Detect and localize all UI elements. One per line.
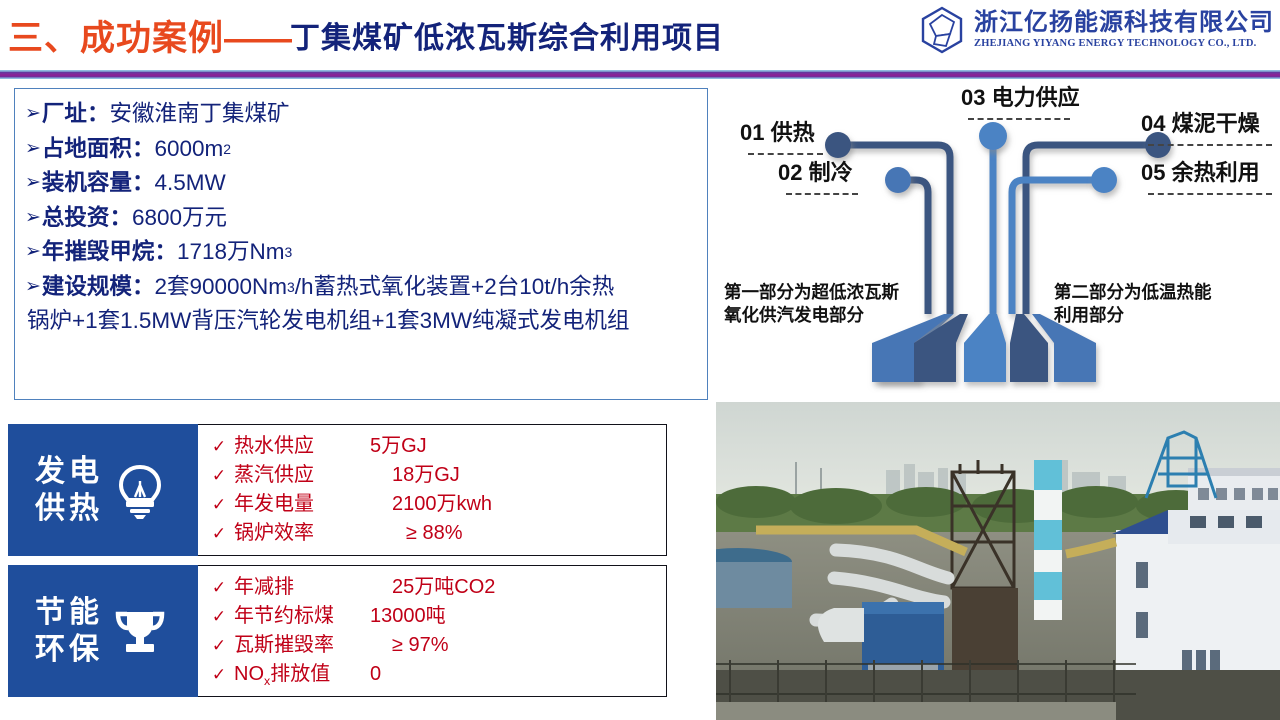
node-dot-02: [885, 167, 911, 193]
logo-company-cn: 浙江亿扬能源科技有限公司: [974, 10, 1274, 34]
metric-block-energy-env: 节能 环保 ✓ 年减排 25万吨CO2 ✓ 年节约标煤 13000吨: [8, 565, 667, 697]
check-icon: ✓: [204, 602, 234, 631]
metric-row: ✓ NOx排放值 0: [204, 660, 666, 696]
metric-row: ✓ 锅炉效率 ≥ 88%: [204, 519, 666, 548]
info-separator: ：: [132, 132, 155, 167]
plant-photo-illustration: [716, 402, 1280, 720]
info-item-area: ➢ 占地面积 ： 6000m2: [25, 132, 697, 167]
diagram-text-01: 供热: [771, 120, 815, 145]
check-icon: ✓: [204, 432, 234, 461]
metric-row-name: 热水供应: [234, 432, 370, 461]
metric-table-energy-env: ✓ 年减排 25万吨CO2 ✓ 年节约标煤 13000吨 ✓ 瓦斯摧毁率 ≥ 9…: [198, 565, 667, 697]
metric-tag-line2: 环保: [35, 631, 103, 668]
diagram-underline-04: [1148, 144, 1272, 146]
diagram-label-02: 02 制冷: [778, 155, 853, 187]
bullet-icon: ➢: [25, 166, 41, 201]
plant-photo: [716, 402, 1280, 720]
info-value: 6000m: [154, 132, 223, 167]
metric-row-value: 5万GJ: [370, 432, 427, 461]
info-value: 6800万元: [132, 201, 227, 236]
diagram-num-05: 05: [1141, 160, 1165, 185]
metric-row-value: ≥ 88%: [370, 519, 463, 548]
diagram-caption-left-line2: 氧化供汽发电部分: [724, 304, 899, 327]
info-item-methane: ➢ 年摧毁甲烷 ： 1718万Nm3: [25, 235, 697, 270]
diagram-num-02: 02: [778, 160, 802, 185]
info-item-site: ➢ 厂址 ： 安徽淮南丁集煤矿: [25, 97, 697, 132]
project-info-panel: ➢ 厂址 ： 安徽淮南丁集煤矿 ➢ 占地面积 ： 6000m2 ➢ 装机容量 ：…: [14, 88, 708, 400]
lightbulb-icon: [109, 459, 171, 521]
info-separator: ：: [132, 166, 155, 201]
metric-block-power-heat: 发电 供热 ✓ 热水供应 5万GJ ✓ 蒸汽供应 18万GJ: [8, 424, 667, 556]
bullet-icon: ➢: [25, 132, 41, 167]
metric-row-name-b: 排放值: [270, 663, 330, 685]
diagram-label-05: 05 余热利用: [1141, 155, 1260, 187]
metric-row-name: 年节约标煤: [234, 602, 370, 631]
logo-text-block: 浙江亿扬能源科技有限公司 ZHEJIANG YIYANG ENERGY TECH…: [974, 10, 1274, 50]
metric-row-value: 2100万kwh: [370, 490, 492, 519]
metric-tag-energy-env: 节能 环保: [8, 565, 198, 697]
project-info-list: ➢ 厂址 ： 安徽淮南丁集煤矿 ➢ 占地面积 ： 6000m2 ➢ 装机容量 ：…: [15, 89, 707, 339]
info-item-build-scale: ➢ 建设规模 ： 2套90000Nm3/h蓄热式氧化装置+2台10t/h余热: [25, 270, 697, 305]
photo-chimney: [1034, 460, 1062, 620]
info-label: 年摧毁甲烷: [42, 235, 155, 270]
title-dash: ——: [224, 19, 290, 58]
diagram-label-03: 03 电力供应: [961, 80, 1080, 112]
info-label: 厂址: [42, 97, 87, 132]
metric-tag-line1: 节能: [35, 594, 103, 631]
diagram-caption-left-line1: 第一部分为超低浓瓦斯: [724, 281, 899, 304]
diagram-caption-right: 第二部分为低温热能 利用部分: [1054, 281, 1212, 327]
metric-row-name-a: NO: [234, 663, 264, 685]
check-icon: ✓: [204, 660, 234, 689]
check-icon: ✓: [204, 490, 234, 519]
info-label: 占地面积: [42, 132, 132, 167]
info-value-part-b: /h蓄热式氧化装置+2台10t/h余热: [295, 270, 614, 305]
metric-row: ✓ 年减排 25万吨CO2: [204, 573, 666, 602]
diagram-underline-05: [1148, 193, 1272, 195]
diagram-text-03: 电力供应: [992, 85, 1080, 110]
metric-row-value: 18万GJ: [370, 461, 460, 490]
diagram-num-03: 03: [961, 85, 985, 110]
info-value: 安徽淮南丁集煤矿: [109, 97, 289, 132]
hexagon-logo-icon: [920, 6, 964, 54]
node-dot-05: [1091, 167, 1117, 193]
info-separator: ：: [154, 235, 177, 270]
check-icon: ✓: [204, 573, 234, 602]
metric-row-name: 瓦斯摧毁率: [234, 631, 370, 660]
metric-table-power-heat: ✓ 热水供应 5万GJ ✓ 蒸汽供应 18万GJ ✓ 年发电量 2100万kwh…: [198, 424, 667, 556]
metric-row-value: 0: [370, 660, 381, 689]
diagram-num-01: 01: [740, 120, 764, 145]
slide-root: 三、成功案例——丁集煤矿低浓瓦斯综合利用项目 浙江亿扬能源科技有限公司 ZHEJ…: [0, 0, 1280, 720]
node-dot-03: [979, 122, 1007, 150]
info-item-capacity: ➢ 装机容量 ： 4.5MW: [25, 166, 697, 201]
info-item-build-scale-line2: 锅炉+1套1.5MW背压汽轮发电机组+1套3MW纯凝式发电机组: [25, 304, 697, 339]
metric-tag-line2: 供热: [35, 490, 103, 527]
diagram-label-04: 04 煤泥干燥: [1141, 106, 1260, 138]
info-value: 4.5MW: [154, 166, 225, 201]
metric-row: ✓ 年发电量 2100万kwh: [204, 490, 666, 519]
metric-tag-label: 节能 环保: [35, 594, 103, 668]
bullet-icon: ➢: [25, 97, 41, 132]
check-icon: ✓: [204, 461, 234, 490]
info-item-investment: ➢ 总投资 ： 6800万元: [25, 201, 697, 236]
metric-tag-line1: 发电: [35, 453, 103, 490]
company-logo: 浙江亿扬能源科技有限公司 ZHEJIANG YIYANG ENERGY TECH…: [920, 6, 1274, 54]
metric-tag-power-heat: 发电 供热: [8, 424, 198, 556]
diagram-text-02: 制冷: [809, 160, 853, 185]
metric-row-name: 蒸汽供应: [234, 461, 370, 490]
info-value-superscript: 3: [285, 235, 293, 270]
title-main: 丁集煤矿低浓瓦斯综合利用项目: [290, 22, 724, 55]
metric-row: ✓ 热水供应 5万GJ: [204, 432, 666, 461]
info-label: 总投资: [42, 201, 110, 236]
diagram-num-04: 04: [1141, 111, 1165, 136]
logo-company-en: ZHEJIANG YIYANG ENERGY TECHNOLOGY CO., L…: [974, 39, 1274, 50]
title-accent: 三、成功案例: [8, 19, 224, 58]
info-value-superscript: 3: [287, 270, 295, 305]
diagram-caption-right-line2: 利用部分: [1054, 304, 1212, 327]
info-value-part-a: 2套90000Nm: [154, 270, 287, 305]
info-value: 1718万Nm: [177, 235, 285, 270]
header-divider: [0, 70, 1280, 79]
metric-row-value: 25万吨CO2: [370, 573, 495, 602]
trophy-icon: [109, 600, 171, 662]
diagram-text-04: 煤泥干燥: [1172, 111, 1260, 136]
metric-row: ✓ 年节约标煤 13000吨: [204, 602, 666, 631]
diagram-text-05: 余热利用: [1172, 160, 1260, 185]
diagram-label-01: 01 供热: [740, 115, 815, 147]
info-label: 装机容量: [42, 166, 132, 201]
diagram-underline-03: [968, 118, 1070, 120]
slide-header: 三、成功案例——丁集煤矿低浓瓦斯综合利用项目 浙江亿扬能源科技有限公司 ZHEJ…: [0, 0, 1280, 70]
metric-row-name: NOx排放值: [234, 660, 370, 696]
info-separator: ：: [87, 97, 110, 132]
metric-tag-label: 发电 供热: [35, 453, 103, 527]
energy-flow-diagram: 03 电力供应 01 供热 02 制冷 04 煤泥干燥 05 余热利用: [716, 82, 1280, 400]
metric-row-name: 年减排: [234, 573, 370, 602]
metric-row-name: 锅炉效率: [234, 519, 370, 548]
metric-row-value: ≥ 97%: [370, 631, 449, 660]
check-icon: ✓: [204, 631, 234, 660]
metric-row: ✓ 蒸汽供应 18万GJ: [204, 461, 666, 490]
check-icon: ✓: [204, 519, 234, 548]
info-separator: ：: [132, 270, 155, 305]
info-separator: ：: [109, 201, 132, 236]
bullet-icon: ➢: [25, 235, 41, 270]
diagram-caption-left: 第一部分为超低浓瓦斯 氧化供汽发电部分: [724, 281, 899, 327]
bullet-icon: ➢: [25, 201, 41, 236]
metric-row-value: 13000吨: [370, 602, 446, 631]
page-title: 三、成功案例——丁集煤矿低浓瓦斯综合利用项目: [8, 10, 724, 61]
photo-tank: [716, 548, 792, 608]
bullet-icon: ➢: [25, 270, 41, 305]
info-value-superscript: 2: [223, 132, 231, 167]
metric-row: ✓ 瓦斯摧毁率 ≥ 97%: [204, 631, 666, 660]
diagram-caption-right-line1: 第二部分为低温热能: [1054, 281, 1212, 304]
diagram-underline-02: [786, 193, 858, 195]
info-label: 建设规模: [42, 270, 132, 305]
metric-row-name: 年发电量: [234, 490, 370, 519]
